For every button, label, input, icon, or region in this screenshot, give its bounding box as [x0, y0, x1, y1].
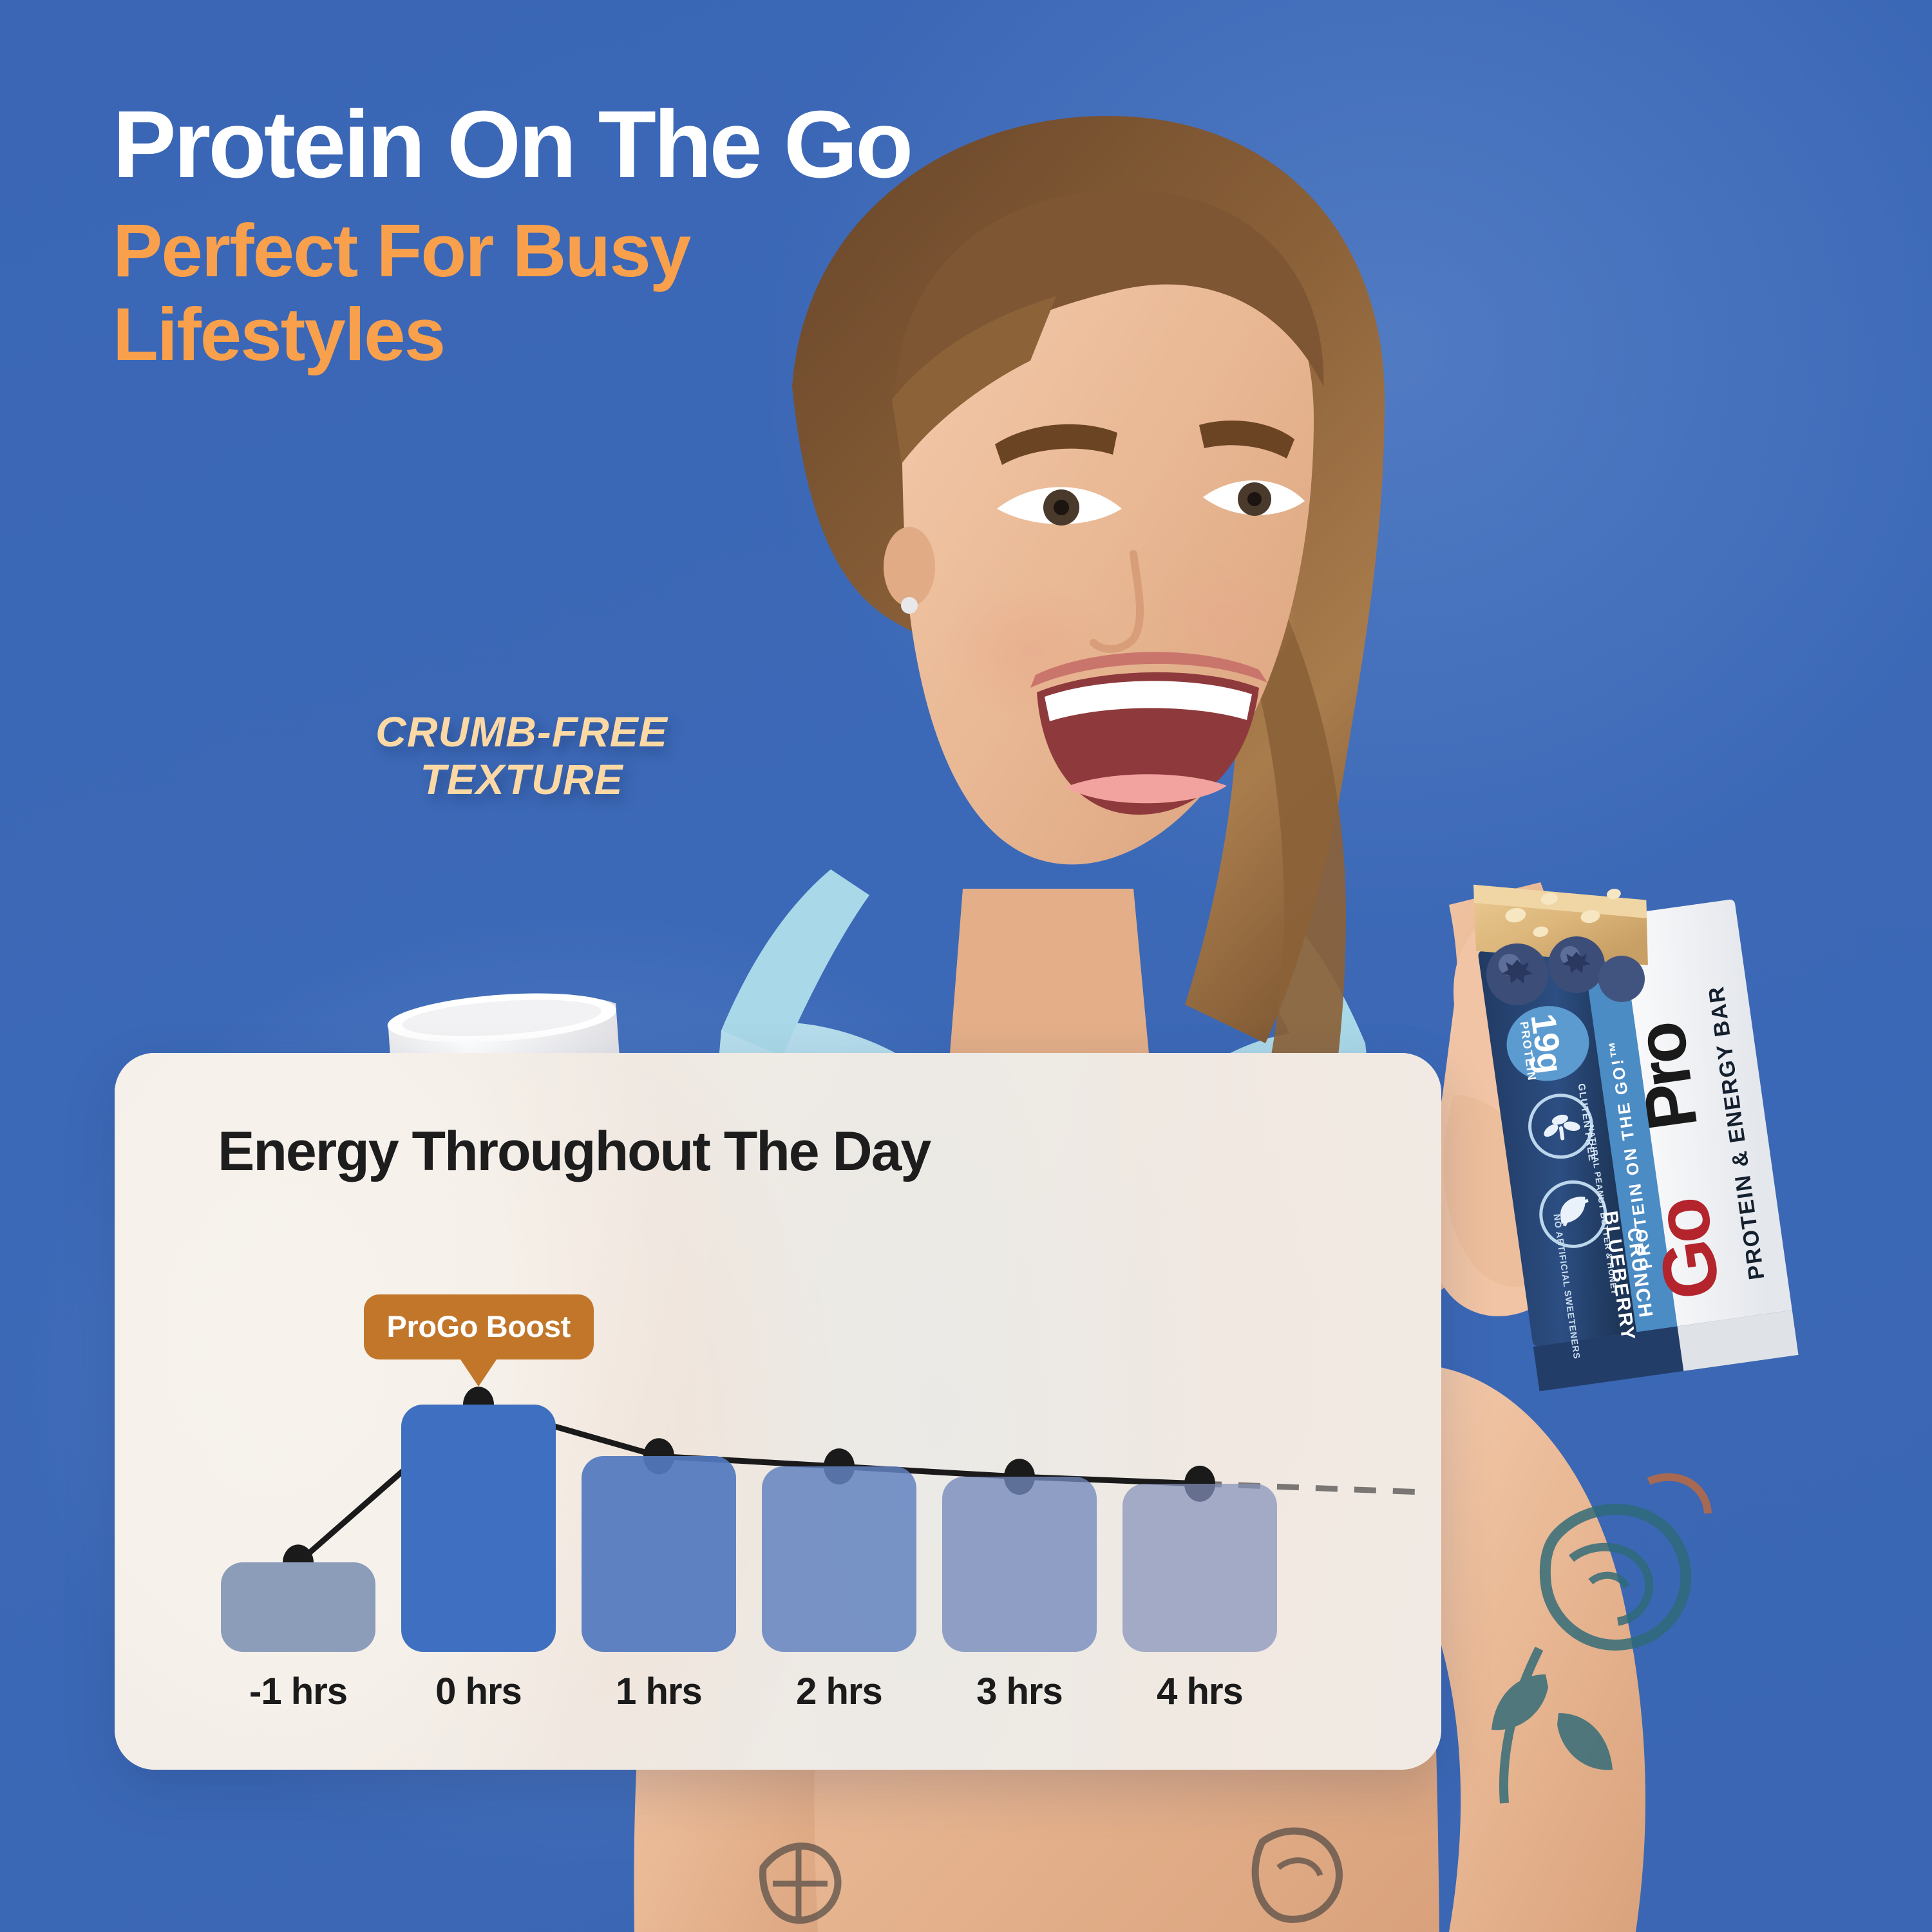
page-title: Protein On The Go	[113, 97, 911, 194]
energy-chart-card: Energy Throughout The Day ProGo Boost -1…	[115, 1053, 1441, 1770]
crumb-free-texture-badge: CRUMB-FREE TEXTURE	[341, 708, 702, 804]
chart-bar	[942, 1477, 1097, 1652]
product-brand-go: Go	[1638, 1195, 1736, 1305]
chart-x-axis-label: 2 hrs	[762, 1670, 916, 1713]
chart-bar	[221, 1562, 375, 1652]
chart-x-axis-label: 4 hrs	[1122, 1670, 1277, 1713]
page-subtitle-line1: Perfect For Busy	[113, 209, 690, 292]
headline-block: Protein On The Go Perfect For Busy Lifes…	[113, 97, 911, 377]
chart-x-axis-label: -1 hrs	[221, 1670, 375, 1713]
chart-bar	[401, 1405, 556, 1652]
tooltip-pointer-icon	[460, 1359, 497, 1387]
page-subtitle: Perfect For Busy Lifestyles	[113, 209, 821, 377]
crumb-free-line2: TEXTURE	[420, 755, 623, 803]
page-subtitle-line2: Lifestyles	[113, 292, 444, 376]
chart-bar	[1122, 1484, 1277, 1652]
chart-x-axis-label: 3 hrs	[942, 1670, 1097, 1713]
chart-line-overlay	[115, 1053, 1441, 1770]
chart-bar	[582, 1456, 736, 1652]
progo-boost-tooltip[interactable]: ProGo Boost	[364, 1294, 594, 1359]
chart-x-axis-label: 1 hrs	[582, 1670, 736, 1713]
product-brand-pro: Pro	[1620, 1019, 1712, 1135]
chart-x-axis-label: 0 hrs	[401, 1670, 556, 1713]
chart-bar	[762, 1466, 916, 1652]
chart-plot-area: ProGo Boost -1 hrs0 hrs1 hrs2 hrs3 hrs4 …	[115, 1053, 1441, 1770]
crumb-free-line1: CRUMB-FREE	[375, 708, 668, 755]
